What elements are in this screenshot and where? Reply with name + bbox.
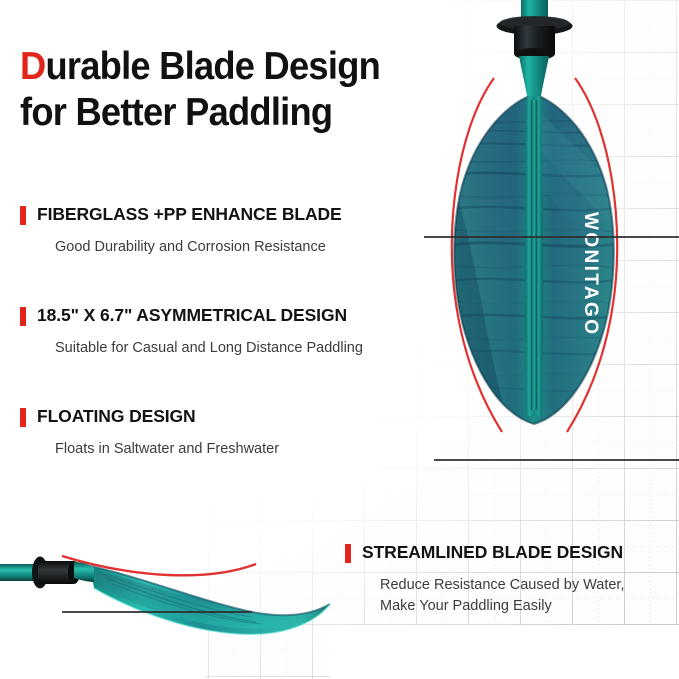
- red-bar-bullet-icon: [345, 544, 351, 563]
- paddle-blade-side-svg: [0, 520, 334, 650]
- feature-2-title: 18.5" X 6.7" ASYMMETRICAL DESIGN: [37, 305, 347, 325]
- infographic-page: Durable Blade Designfor Better Paddling …: [0, 0, 679, 679]
- red-bar-bullet-icon: [20, 408, 26, 427]
- feature-3-header: FLOATING DESIGN: [20, 406, 420, 427]
- blade-brand-label: WONITAGO: [580, 212, 601, 336]
- feature-item-4: STREAMLINED BLADE DESIGN Reduce Resistan…: [345, 542, 679, 617]
- feature-2-header: 18.5" X 6.7" ASYMMETRICAL DESIGN: [20, 305, 420, 326]
- feature-4-title: STREAMLINED BLADE DESIGN: [362, 542, 623, 562]
- feature-1-header: FIBERGLASS +PP ENHANCE BLADE: [20, 204, 420, 225]
- page-title-line2: for Better Paddling: [20, 91, 332, 134]
- grid-mask-lower-right: [330, 625, 679, 679]
- feature-3-subtitle: Floats in Saltwater and Freshwater: [55, 439, 420, 460]
- red-bar-bullet-icon: [20, 307, 26, 326]
- blade-center-rib: [525, 96, 543, 416]
- paddle-blade-front-view-image: WONITAGO: [386, 0, 679, 476]
- feature-3-title: FLOATING DESIGN: [37, 406, 196, 426]
- red-bar-bullet-icon: [20, 206, 26, 225]
- paddle-shaft-group: [497, 0, 573, 96]
- paddle-blade-side-view-image: [0, 520, 334, 650]
- shaft-to-blade-throat: [519, 56, 549, 96]
- feature-4-header: STREAMLINED BLADE DESIGN: [345, 542, 679, 563]
- feature-4-subtitle: Reduce Resistance Caused by Water, Make …: [380, 575, 679, 617]
- feature-1-subtitle: Good Durability and Corrosion Resistance: [55, 237, 420, 258]
- feature-1-title: FIBERGLASS +PP ENHANCE BLADE: [37, 204, 342, 224]
- feature-item-3: FLOATING DESIGN Floats in Saltwater and …: [20, 406, 420, 460]
- paddle-blade-front-svg: WONITAGO: [386, 0, 679, 476]
- feature-2-subtitle: Suitable for Casual and Long Distance Pa…: [55, 338, 420, 359]
- page-title-initial: D: [20, 45, 45, 88]
- side-paddle-shaft: [0, 564, 34, 581]
- page-title-rest: urable Blade Design: [45, 45, 380, 88]
- page-title: Durable Blade Designfor Better Paddling: [20, 44, 392, 136]
- feature-item-2: 18.5" X 6.7" ASYMMETRICAL DESIGN Suitabl…: [20, 305, 420, 359]
- side-blade-body: [90, 566, 330, 634]
- feature-item-1: FIBERGLASS +PP ENHANCE BLADE Good Durabi…: [20, 204, 420, 258]
